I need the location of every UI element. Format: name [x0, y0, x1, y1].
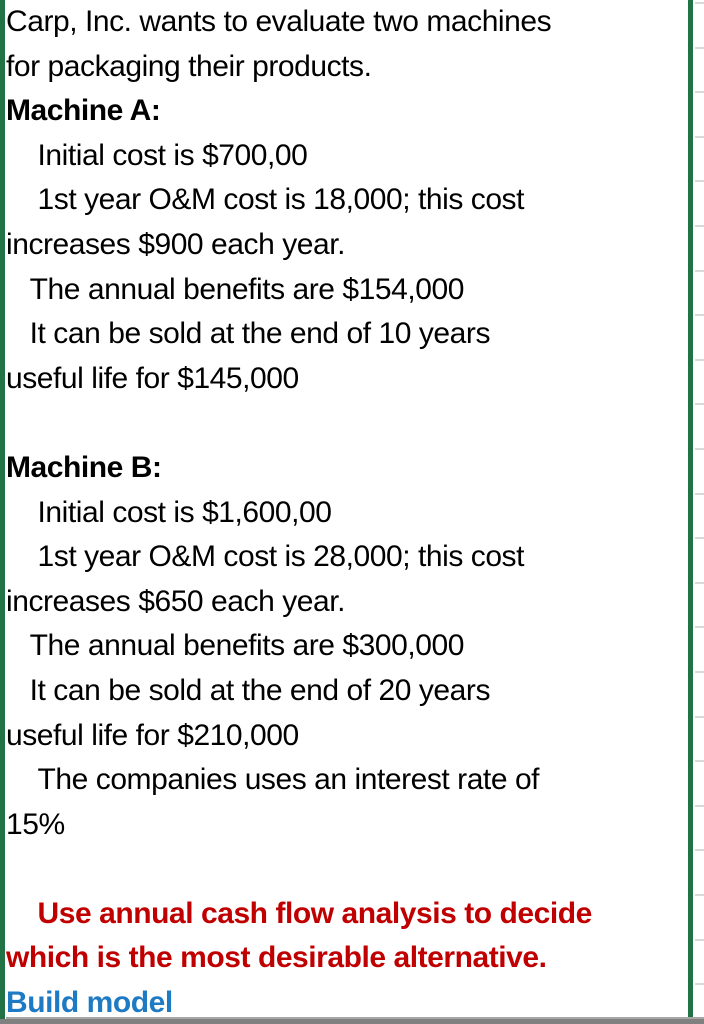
row-gridline-stub [695, 805, 704, 807]
row-gridline-stub [695, 626, 704, 628]
row-gridline-stub [695, 582, 704, 584]
row-gridline-stub [695, 47, 704, 49]
row-gridline-stub [695, 983, 704, 985]
row-gridline-stub [695, 91, 704, 93]
row-gridline-stub [695, 493, 704, 495]
cell-text-line-l18: The companies uses an interest rate of [6, 758, 686, 803]
cell-text-line-l01: Carp, Inc. wants to evaluate two machine… [6, 0, 686, 45]
row-gridline-stub [695, 894, 704, 896]
row-gridline-stub [695, 2, 704, 4]
cell-text-line-l19: 15% [6, 803, 686, 848]
cell-text-line-l11: Machine B: [6, 446, 686, 491]
row-gridline-stub [695, 716, 704, 718]
cell-text-line-l22: which is the most desirable alternative. [6, 936, 686, 981]
cell-text-line-l09: useful life for $145,000 [6, 357, 686, 402]
cell-selection-border-left [0, 0, 5, 1024]
row-gridline-stub [695, 359, 704, 361]
cell-text-line-l02: for packaging their products. [6, 45, 686, 90]
cell-text-line-l03: Machine A: [6, 89, 686, 134]
row-gridline-stub [695, 270, 704, 272]
cell-selection-border-right [688, 0, 693, 1024]
row-gridline-stub [695, 180, 704, 182]
bottom-chrome-strip [0, 1019, 704, 1024]
cell-text-line-l14: increases $650 each year. [6, 580, 686, 625]
cell-text-line-l21: Use annual cash flow analysis to decide [6, 892, 686, 937]
cell-text-line-l10 [6, 401, 686, 446]
spreadsheet-canvas[interactable]: Carp, Inc. wants to evaluate two machine… [0, 0, 704, 1024]
cell-text-line-l17: useful life for $210,000 [6, 714, 686, 759]
cell-text-line-l04: Initial cost is $700,00 [6, 134, 686, 179]
cell-text-line-l13: 1st year O&M cost is 28,000; this cost [6, 535, 686, 580]
cell-text-line-l06: increases $900 each year. [6, 223, 686, 268]
cell-text-line-l07: The annual benefits are $154,000 [6, 268, 686, 313]
row-gridline-stub [695, 314, 704, 316]
row-gridline-stub [695, 939, 704, 941]
row-gridline-stub [695, 225, 704, 227]
cell-content-text[interactable]: Carp, Inc. wants to evaluate two machine… [6, 0, 686, 1024]
cell-text-line-l15: The annual benefits are $300,000 [6, 624, 686, 669]
cell-text-line-l20 [6, 847, 686, 892]
cell-text-line-l16: It can be sold at the end of 20 years [6, 669, 686, 714]
cell-text-line-l12: Initial cost is $1,600,00 [6, 491, 686, 536]
row-gridline-stub [695, 448, 704, 450]
row-gridline-stub [695, 671, 704, 673]
row-gridline-stub [695, 537, 704, 539]
cell-text-line-l08: It can be sold at the end of 10 years [6, 312, 686, 357]
row-gridline-stub [695, 403, 704, 405]
row-gridline-stub [695, 760, 704, 762]
row-gridline-stub [695, 136, 704, 138]
cell-text-line-l05: 1st year O&M cost is 18,000; this cost [6, 178, 686, 223]
row-gridline-stub [695, 849, 704, 851]
